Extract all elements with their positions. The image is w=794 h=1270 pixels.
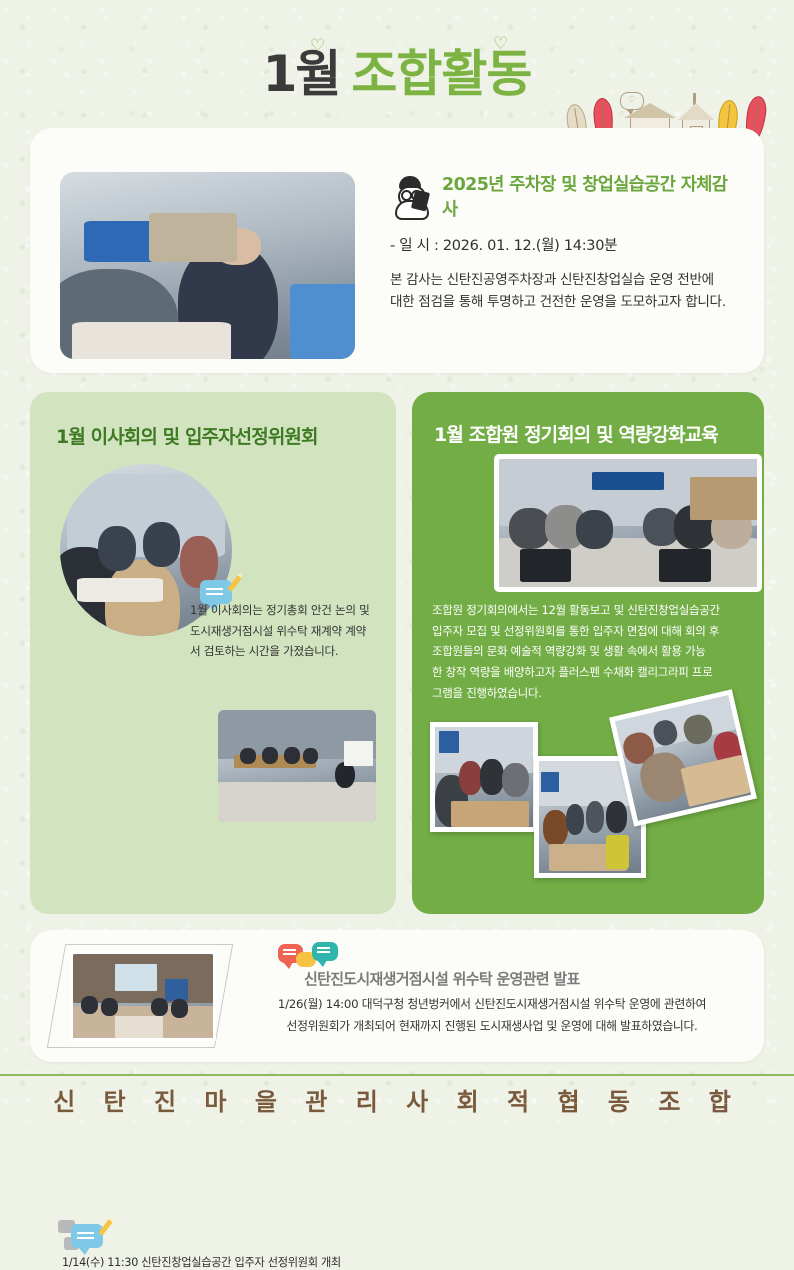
heart-icon: ♡ (310, 36, 325, 56)
footer-divider (0, 1074, 794, 1076)
general-meeting-paragraph-line: 조합원들의 문화 예술적 역량강화 및 생활 속에서 활용 가능 (432, 641, 748, 662)
poster-header: 1월조합활동 ♡ ♡ ♡ (0, 0, 794, 128)
audit-datetime: - 일 시 : 2026. 01. 12.(월) 14:30분 (390, 234, 740, 255)
student-with-clipboard-icon (390, 175, 432, 217)
general-meeting-photo (494, 454, 762, 592)
footer-organization-name: 신 탄 진 마 을 관 리 사 회 적 협 동 조 합 (0, 1082, 794, 1117)
board-meeting-paragraph-line: 1월 이사회의는 정기총회 안건 논의 및 (190, 600, 382, 621)
audit-section-card: 2025년 주차장 및 창업실습공간 자체감사 - 일 시 : 2026. 01… (30, 128, 764, 373)
presentation-section-card: 신탄진도시재생거점시설 위수탁 운영관련 발표 1/26(월) 14:00 대덕… (30, 930, 764, 1062)
heart-icon: ♡ (493, 34, 508, 54)
presentation-paragraph-line: 1/26(월) 14:00 대덕구청 청년벙커에서 신탄진도시재생거점시설 위수… (242, 994, 742, 1016)
meeting-room-photo (60, 172, 355, 359)
general-meeting-paragraph-line: 조합원 정기회의에서는 12월 활동보고 및 신탄진창업실습공간 (432, 600, 748, 621)
audit-title: 2025년 주차장 및 창업실습공간 자체감사 (442, 171, 740, 221)
general-meeting-paragraph: 조합원 정기회의에서는 12월 활동보고 및 신탄진창업실습공간 입주자 모집 … (432, 600, 748, 703)
selection-committee-photo (218, 710, 376, 822)
calligraphy-class-photo-3 (609, 689, 757, 826)
general-meeting-title: 1월 조합원 정기회의 및 역량강화교육 (434, 420, 718, 447)
audit-body-line: 대한 점검을 통해 투명하고 건전한 운영을 도모하고자 합니다. (390, 291, 740, 313)
gray-speech-bubbles-icon (58, 1218, 104, 1254)
presentation-title: 신탄진도시재생거점시설 위수탁 운영관련 발표 (304, 968, 580, 989)
general-meeting-card: 1월 조합원 정기회의 및 역량강화교육 조합원 정기회의에서는 12월 활동보… (412, 392, 764, 914)
calligraphy-class-photo-1 (430, 722, 538, 832)
presentation-paragraph-line: 선정위원회가 개최되어 현재까지 진행된 도시재생사업 및 운영에 대해 발표하… (242, 1016, 742, 1038)
board-meeting-paragraph-line: 서 검토하는 시간을 가졌습니다. (190, 641, 382, 662)
audit-body: 본 감사는 신탄진공영주차장과 신탄진창업실습 운영 전반에 대한 점검을 통해… (390, 269, 740, 314)
board-meeting-title: 1월 이사회의 및 입주자선정위원회 (56, 422, 318, 449)
general-meeting-paragraph-line: 한 창작 역량을 배양하고자 플러스펜 수채화 캘리그라피 프로 (432, 662, 748, 683)
title-month: 1월 (263, 45, 340, 103)
poster-page: 1월조합활동 ♡ ♡ ♡ (0, 0, 794, 1123)
board-meeting-paragraph-line: 도시재생거점시설 위수탁 재계약 계약 (190, 621, 382, 642)
audit-body-line: 본 감사는 신탄진공영주차장과 신탄진창업실습 운영 전반에 (390, 269, 740, 291)
photo-frame (56, 944, 224, 1048)
presentation-paragraph: 1/26(월) 14:00 대덕구청 청년벙커에서 신탄진도시재생거점시설 위수… (242, 994, 742, 1038)
audit-title-row: 2025년 주차장 및 창업실습공간 자체감사 (390, 174, 740, 218)
general-meeting-paragraph-line: 입주자 모집 및 선정위원회를 통한 입주자 면접에 대해 회의 후 (432, 621, 748, 642)
board-meeting-paragraph: 1월 이사회의는 정기총회 안건 논의 및 도시재생거점시설 위수탁 재계약 계… (190, 600, 382, 662)
board-meeting-caption: 1/14(수) 11:30 신탄진창업실습공간 입주자 선정위원회 개최 (62, 1254, 392, 1270)
audit-text-block: 2025년 주차장 및 창업실습공간 자체감사 - 일 시 : 2026. 01… (390, 174, 740, 314)
board-meeting-card: 1월 이사회의 및 입주자선정위원회 1월 이사회의는 정기총회 안건 논의 및… (30, 392, 396, 914)
pencil-speech-bubble-icon (71, 1224, 103, 1248)
presentation-room-photo (70, 951, 216, 1041)
